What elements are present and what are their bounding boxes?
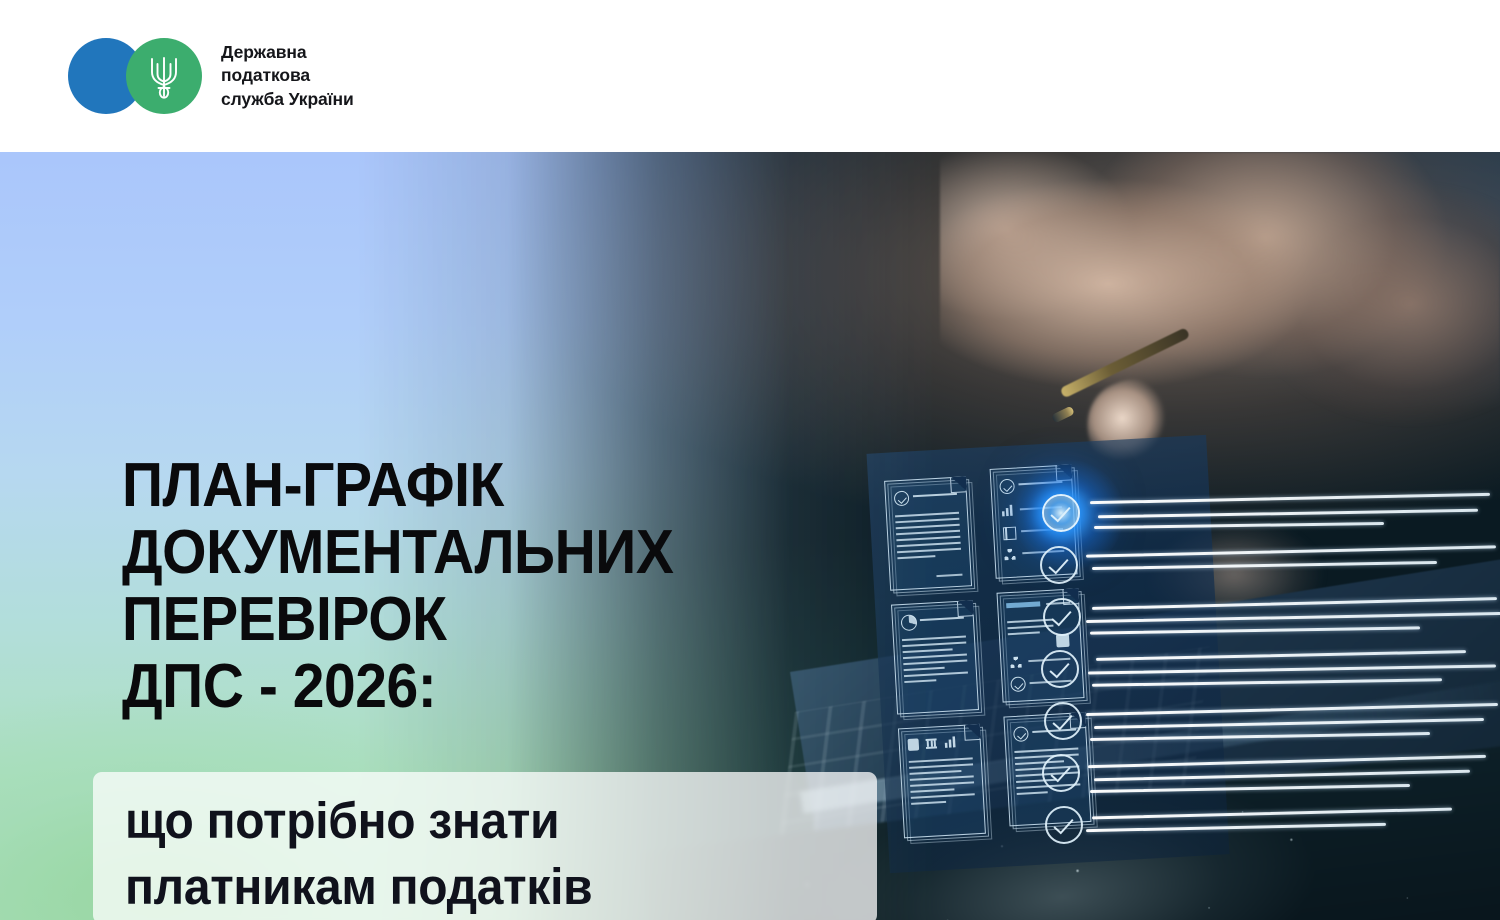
hologram-checkmark-2 [1040, 546, 1078, 584]
trident-icon [146, 52, 182, 100]
logo-text-line-2: податкова [221, 64, 354, 88]
doc-folded-corner [950, 476, 967, 493]
logo-text-line-3: служба України [221, 88, 354, 112]
organization-logo[interactable]: Державна податкова служба України [68, 38, 354, 114]
hologram-checkmark-3 [1043, 598, 1081, 636]
network-icon [1004, 549, 1016, 561]
page-subtitle: що потрібно знати платникам податків [125, 788, 839, 920]
check-badge-icon [1013, 726, 1029, 742]
network-icon [1010, 657, 1022, 669]
logo-text-line-1: Державна [221, 41, 354, 65]
hologram-checkmark-4 [1041, 650, 1079, 688]
doc-header-line [1018, 481, 1062, 486]
header-bar: Державна податкова служба України [0, 0, 1500, 152]
hologram-checkmark-5 [1044, 702, 1082, 740]
doc-folded-corner [1055, 464, 1072, 481]
hologram-checkmark-7 [1045, 806, 1083, 844]
logo-marks [68, 38, 203, 114]
bar-chart-icon [944, 736, 956, 748]
doc-folded-corner [964, 724, 981, 741]
check-badge-icon [1010, 676, 1026, 692]
check-badge-icon [999, 479, 1015, 495]
grid-icon [1003, 527, 1017, 541]
doc-folded-corner [957, 600, 974, 617]
poster-canvas: ПЛАН-ГРАФІК ДОКУМЕНТАЛЬНИХ ПЕРЕВІРОК ДПС… [0, 0, 1500, 920]
logo-text: Державна податкова служба України [221, 41, 354, 112]
hologram-checkmark-6 [1042, 754, 1080, 792]
hologram-checkmark-1 [1042, 494, 1080, 532]
page-title: ПЛАН-ГРАФІК ДОКУМЕНТАЛЬНИХ ПЕРЕВІРОК ДПС… [122, 452, 840, 720]
doc-footer-line [936, 573, 962, 577]
hero-image-area: ПЛАН-ГРАФІК ДОКУМЕНТАЛЬНИХ ПЕРЕВІРОК ДПС… [0, 152, 1500, 920]
bar-chart-icon [1002, 505, 1014, 517]
doc-title-bar [1006, 601, 1040, 608]
hand-photo [940, 152, 1500, 482]
